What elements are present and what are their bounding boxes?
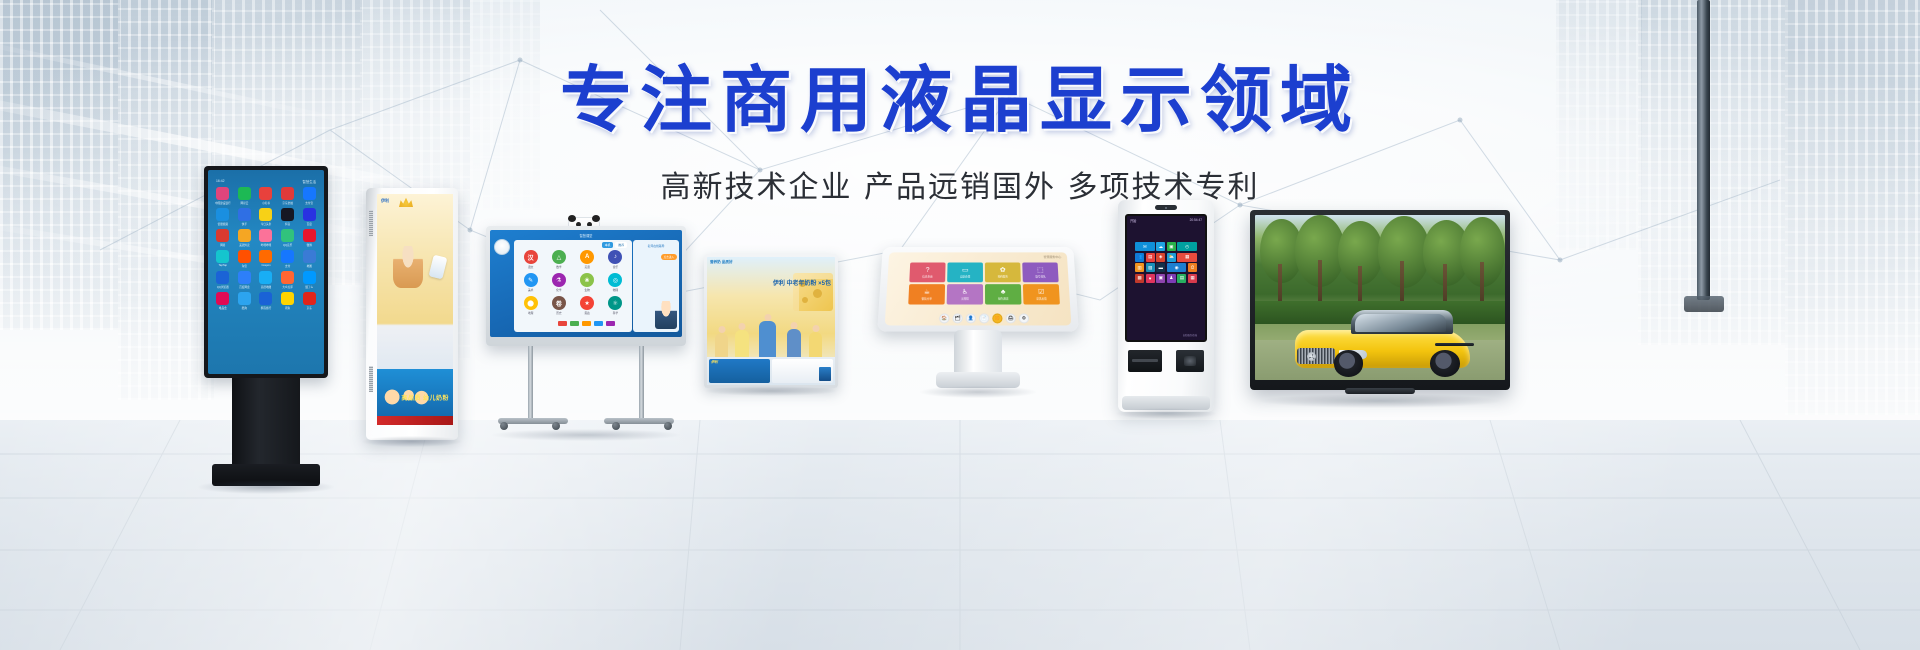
headline-block: 专注商用液晶显示领域 高新技术企业 产品远销国外 多项技术专利 [0,64,1920,206]
figure-child-2 [735,330,749,359]
selfservice-footer: 自助服务终端 [1135,333,1197,337]
kiosk-app-30[interactable]: 京东 [299,292,319,310]
subject-label: 科学 [613,311,618,315]
cheese-block-graphic [793,273,833,311]
retail-people-figures [713,319,829,359]
touchtable-tile-grid[interactable]: ?信息查询▭自助办理✿预约服务⬚取号排队☕餐饮点单♿无障碍♣绿色通道☑意见反馈 [908,262,1060,304]
subject-label: 美术 [528,288,533,292]
app-label: 地图 [307,264,312,268]
figure-child-1 [715,333,728,359]
retail-screen[interactable]: 营养奶 品质好 伊利 中老年奶粉 ×5包 [707,257,835,385]
kiosk-app-26[interactable]: 唯品会 [213,292,233,310]
tile-label: 自助办理 [960,274,970,278]
windows-tile-15[interactable]: ▩ [1135,274,1144,283]
app-label: 抖音 [285,222,290,226]
app-label: QQ音乐 [283,243,292,247]
tile-label: 无障碍 [961,296,969,300]
windows-tile-20[interactable]: ▦ [1188,274,1197,283]
kiosk-black-shadow [198,480,334,494]
ad-white-headline: 高品质 幼儿奶粉 [401,396,449,403]
retail-cell-1[interactable]: 伊利 [709,359,770,383]
subject-icon: ✎ [524,273,538,287]
touchtable-tile-1[interactable]: ?信息查询 [909,262,945,282]
subject-icon: 卷 [552,296,566,310]
touchtable-panel: 智慧服务中心 ?信息查询▭自助办理✿预约服务⬚取号排队☕餐饮点单♿无障碍♣绿色通… [877,247,1079,332]
windows-tile-9[interactable]: ▦ [1177,253,1197,262]
figure-child-4 [809,332,822,359]
retail-cell-2[interactable] [772,359,833,383]
subject-label: 生物 [584,288,589,292]
barcode-scanner-icon [1176,350,1204,372]
subject-label: 语文 [528,265,533,269]
windows-tile-14[interactable]: ⏱ [1188,263,1197,272]
whiteboard-stand-right [639,346,644,420]
car-wheel-front [1334,350,1364,376]
touchtable-screen[interactable]: 智慧服务中心 ?信息查询▭自助办理✿预约服务⬚取号排队☕餐饮点单♿无障碍♣绿色通… [885,252,1072,325]
touchtable-dock-button-3[interactable]: 👤 [966,313,976,323]
tile-label: 取号排队 [1035,274,1045,278]
app-icon [238,208,251,221]
product-vertical-ad-white[interactable]: 伊利 高品质 幼儿奶粉 [366,188,458,440]
tv-shadow [1260,394,1500,408]
product-pack-icon [819,367,831,381]
touchtable-tile-8[interactable]: ☑意见反馈 [1023,284,1060,304]
touchtable-dock-button-5[interactable]: 🔆 [992,313,1002,323]
product-vertical-kiosk-black[interactable]: 16:42 智慧生活 中国建设银行网易云小红书京东金融支付宝优酷视频快手今日头条… [204,166,328,486]
app-icon [281,250,294,263]
ad-white-vent-bottom [369,366,373,392]
windows-tile-16[interactable]: ♥ [1146,274,1155,283]
app-icon [259,271,272,284]
selfservice-clock: 20:54:47 [1190,218,1202,223]
ad-white-vent-top [369,210,373,236]
windows-tile-4[interactable]: ◴ [1177,242,1197,251]
subject-label: 地理 [528,311,533,315]
subject-tile-4[interactable]: ♪音乐 [603,250,628,269]
app-icon [259,250,272,263]
tile-icon: ♣ [1001,288,1006,295]
app-label: 百度网盘 [239,285,249,289]
app-label: 唯品会 [219,306,227,310]
subject-label: 数学 [556,265,561,269]
touchtable-tile-7[interactable]: ♣绿色通道 [985,284,1022,304]
tv-screen[interactable] [1255,215,1505,380]
kiosk-app-15[interactable]: 微博 [299,229,319,247]
app-label: 微博 [307,243,312,247]
windows-tile-19[interactable]: ▤ [1177,274,1186,283]
app-icon [216,292,229,305]
windows-tile-2[interactable]: ☁ [1156,242,1165,251]
sports-car-graphic [1295,307,1470,376]
subject-icon: 汉 [524,250,538,264]
subject-tile-10[interactable]: 卷历史 [546,296,571,315]
app-label: 携程旅行 [261,306,271,310]
kiosk-app-8[interactable]: 今日头条 [256,208,276,226]
app-icon [238,292,251,305]
touchtable-dock-button-4[interactable]: 📄 [979,313,989,323]
dock-item-4[interactable] [594,321,603,326]
subject-icon: ★ [580,296,594,310]
figure-adult [759,321,776,359]
kiosk-app-11[interactable]: 网易 [213,229,233,247]
car-rear-wing [1435,343,1474,346]
touchtable-dock-button-1[interactable]: 🏠 [939,313,949,323]
subject-icon: A [580,250,594,264]
windows-tile-6[interactable]: ▤ [1146,253,1155,262]
kiosk-app-23[interactable]: 高德地图 [256,271,276,289]
subject-tile-6[interactable]: ⚗化学 [546,273,571,292]
subject-icon: ❀ [580,273,594,287]
dock-item-1[interactable] [558,321,567,326]
app-label: 哔哩哔哩 [261,243,271,247]
tile-icon: ☑ [1038,288,1045,295]
touchtable-shadow [920,386,1036,398]
tile-icon: ♿ [962,288,968,295]
app-icon [259,292,272,305]
tile-label: 绿色通道 [998,296,1009,300]
app-label: 闲鱼 [285,306,290,310]
tile-icon: ▭ [962,267,969,274]
kiosk-black-column [232,378,300,466]
retail-bottom-strip: 伊利 [707,357,835,385]
whiteboard-sidebar[interactable]: 名师在线辅导 点击进入 [633,240,679,332]
subject-icon: ⚛ [608,296,622,310]
car-windshield [1355,314,1446,332]
app-icon [303,271,316,284]
ad-white-bottom-strip [377,416,453,425]
app-icon [303,250,316,263]
touchtable-dock-button-6[interactable]: 🖨 [1005,313,1015,323]
kiosk-app-25[interactable]: 饿了么 [299,271,319,289]
touchtable-tile-5[interactable]: ☕餐饮点单 [908,284,945,304]
tab-local[interactable]: 本机 [602,242,614,248]
windows-tile-12[interactable]: ▬ [1156,263,1165,272]
tile-icon: ☕ [924,288,931,295]
tile-icon: ⬚ [1037,267,1044,274]
selfservice-status-left: 开始 [1130,218,1136,223]
app-label: Coupon [261,264,270,267]
kiosk-app-29[interactable]: 闲鱼 [278,292,298,310]
app-icon [216,250,229,263]
selfservice-shadow [1116,408,1216,419]
subject-tile-5[interactable]: ✎美术 [518,273,543,292]
app-label: 京东 [307,306,312,310]
kiosk-app-18[interactable]: Coupon [256,250,276,268]
product-interactive-whiteboard[interactable]: 智慧课堂 本机 推荐 汉语文△数学A英语♪音乐✎美术⚗化学❀生物◎物理⬤地理卷历… [486,226,686,440]
whiteboard-shadow [492,429,680,441]
app-label: 网易 [220,243,225,247]
app-icon [238,229,251,242]
windows-tile-17[interactable]: ▣ [1156,274,1165,283]
app-label: 饿了么 [305,285,313,289]
cheese-hole-2 [813,289,822,298]
whiteboard-tabs[interactable]: 本机 推荐 [602,242,627,248]
touchtable-dock[interactable]: 🏠🗂👤📄🔆🖨⚙ [916,313,1053,323]
ad-white-product-shot [429,255,448,280]
subject-tile-11[interactable]: ★思政 [575,296,600,315]
touchtable-dock-button-2[interactable]: 🗂 [952,313,962,323]
kiosk-app-22[interactable]: 百度网盘 [235,271,255,289]
selfservice-statusbar: 开始 20:54:47 [1127,216,1205,225]
product-lcd-tv[interactable] [1250,210,1510,390]
windows-tile-10[interactable]: ▥ [1135,263,1144,272]
whiteboard-header: 智慧课堂 [490,230,682,240]
retail-brand: 营养奶 品质好 [710,260,733,264]
kiosk-app-7[interactable]: 快手 [235,208,255,226]
subject-tile-7[interactable]: ❀生物 [575,273,600,292]
app-label: 酷狗 [242,306,247,310]
windows-tile-3[interactable]: ▣ [1167,242,1176,251]
app-icon [303,292,316,305]
windows-tile-8[interactable]: ⛅ [1167,253,1176,262]
tab-recommended[interactable]: 推荐 [615,242,627,248]
app-label: 百度 [307,222,312,226]
app-label: 优酷视频 [218,222,228,226]
touchtable-header: 智慧服务中心 [1043,255,1061,259]
ad-white-shadow [362,436,462,447]
retail-bezel: 营养奶 品质好 伊利 中老年奶粉 ×5包 [704,254,838,388]
app-icon [216,208,229,221]
app-icon [238,271,251,284]
app-label: 美团外卖 [239,243,249,247]
subject-label: 历史 [556,311,561,315]
whiteboard-subject-card: 本机 推荐 汉语文△数学A英语♪音乐✎美术⚗化学❀生物◎物理⬤地理卷历史★思政⚛… [514,240,632,332]
subject-tile-8[interactable]: ◎物理 [603,273,628,292]
selfservice-screen[interactable]: 开始 20:54:47 ✉☁▣◴👥▤◈⛅▦▥▧▬◉⏱▩♥▣♟▤▦ 自助服务终端 [1125,214,1207,342]
subject-label: 英语 [584,265,589,269]
kiosk-app-24[interactable]: 大众点评 [278,271,298,289]
subject-tile-1[interactable]: 汉语文 [518,250,543,269]
app-label: 高德地图 [261,285,271,289]
touchtable-dock-button-7[interactable]: ⚙ [1019,313,1030,323]
product-self-service-kiosk[interactable]: 开始 20:54:47 ✉☁▣◴👥▤◈⛅▦▥▧▬◉⏱▩♥▣♟▤▦ 自助服务终端 [1118,200,1214,412]
whiteboard-cta-bubble[interactable]: 点击进入 [661,254,677,260]
kiosk-app-21[interactable]: QQ浏览器 [213,271,233,289]
tile-icon: ? [926,267,930,274]
app-icon [281,271,294,284]
kiosk-app-19[interactable]: 支付 [278,250,298,268]
product-touch-table[interactable]: 智慧服务中心 ?信息查询▭自助办理✿预约服务⬚取号排队☕餐饮点单♿无障碍♣绿色通… [880,244,1076,406]
panda-ear-left-icon [568,215,576,222]
tile-label: 意见反馈 [1036,296,1047,300]
touchtable-column [954,330,1002,376]
subject-tile-9[interactable]: ⬤地理 [518,296,543,315]
ad-white-kids-figures [382,379,428,409]
ad-white-child-figure [393,246,423,288]
touchtable-tile-2[interactable]: ▭自助办理 [947,262,983,282]
subject-icon: ◎ [608,273,622,287]
kiosk-app-28[interactable]: 携程旅行 [256,292,276,310]
app-label: 快手 [242,222,247,226]
app-icon [216,229,229,242]
windows-tile-11[interactable]: ▧ [1146,263,1155,272]
figure-child-3 [787,329,801,359]
app-label: TapTap [219,264,227,267]
whiteboard-bezel: 智慧课堂 本机 推荐 汉语文△数学A英语♪音乐✎美术⚗化学❀生物◎物理⬤地理卷历… [486,226,686,346]
app-icon [259,208,272,221]
app-icon [281,292,294,305]
windows-tile-13[interactable]: ◉ [1167,263,1187,272]
receipt-printer [1128,350,1162,372]
dock-item-3[interactable] [582,321,591,326]
app-icon [238,250,251,263]
app-icon [281,208,294,221]
whiteboard-sidebar-title: 名师在线辅导 [636,244,676,248]
whiteboard-header-label: 智慧课堂 [580,233,593,238]
retail-cell-1-text: 伊利 [711,361,718,365]
selfservice-tile-grid[interactable]: ✉☁▣◴👥▤◈⛅▦▥▧▬◉⏱▩♥▣♟▤▦ [1135,242,1197,283]
whiteboard-stand-left [528,346,533,420]
app-label: 大众点评 [282,285,292,289]
car-wheel-rear [1430,350,1460,376]
app-icon [303,208,316,221]
app-label: 支付 [285,264,290,268]
page-title: 专注商用液晶显示领域 [0,64,1920,136]
tv-bezel [1250,210,1510,390]
ad-white-chassis: 伊利 高品质 幼儿奶粉 [366,188,458,440]
subject-icon: △ [552,250,566,264]
touchtable-tile-3[interactable]: ✿预约服务 [985,262,1021,282]
kiosk-app-10[interactable]: 百度 [299,208,319,226]
app-icon [216,271,229,284]
kiosk-app-12[interactable]: 美团外卖 [235,229,255,247]
subject-tile-12[interactable]: ⚛科学 [603,296,628,315]
cheese-hole-3 [802,297,808,303]
page-subtitle: 高新技术企业 产品远销国外 多项技术专利 [0,162,1920,206]
whiteboard-dock[interactable] [494,321,678,326]
touchtable-tile-6[interactable]: ♿无障碍 [947,284,983,304]
kiosk-app-20[interactable]: 地图 [299,250,319,268]
whiteboard-screen[interactable]: 智慧课堂 本机 推荐 汉语文△数学A英语♪音乐✎美术⚗化学❀生物◎物理⬤地理卷历… [490,230,682,337]
windows-tile-1[interactable]: ✉ [1135,242,1155,251]
subject-icon: ⬤ [524,296,538,310]
selfservice-chassis: 开始 20:54:47 ✉☁▣◴👥▤◈⛅▦▥▧▬◉⏱▩♥▣♟▤▦ 自助服务终端 [1118,200,1214,412]
whiteboard-user-avatar[interactable] [494,239,510,255]
tile-icon: ✿ [1000,267,1006,274]
tile-label: 预约服务 [998,274,1008,278]
ad-white-screen[interactable]: 伊利 高品质 幼儿奶粉 [377,194,453,425]
kiosk-app-14[interactable]: QQ音乐 [278,229,298,247]
whiteboard-subject-grid[interactable]: 汉语文△数学A英语♪音乐✎美术⚗化学❀生物◎物理⬤地理卷历史★思政⚛科学 [518,250,628,315]
subject-label: 物理 [613,288,618,292]
kiosk-app-13[interactable]: 哔哩哔哩 [256,229,276,247]
dock-item-5[interactable] [606,321,615,326]
subject-label: 音乐 [613,265,618,269]
subject-icon: ♪ [608,250,622,264]
kiosk-app-17[interactable]: 淘宝 [235,250,255,268]
windows-tile-18[interactable]: ♟ [1167,274,1176,283]
kiosk-app-9[interactable]: 抖音 [278,208,298,226]
app-icon [303,229,316,242]
subject-tile-2[interactable]: △数学 [546,250,571,269]
banner-stage: 专注商用液晶显示领域 高新技术企业 产品远销国外 多项技术专利 16:42 智慧… [0,0,1920,650]
kiosk-app-27[interactable]: 酷狗 [235,292,255,310]
retail-headline: 伊利 中老年奶粉 ×5包 [773,281,831,288]
app-label: 今日头条 [261,222,271,226]
windows-tile-5[interactable]: 👥 [1135,253,1144,262]
tile-label: 信息查询 [922,274,932,278]
kiosk-app-16[interactable]: TapTap [213,250,233,268]
app-label: QQ浏览器 [217,285,229,289]
touchtable-tile-4[interactable]: ⬚取号排队 [1022,262,1058,282]
windows-tile-7[interactable]: ◈ [1156,253,1165,262]
subject-tile-3[interactable]: A英语 [575,250,600,269]
app-icon [281,229,294,242]
panda-ear-right-icon [592,215,600,222]
subject-label: 思政 [584,311,589,315]
subject-label: 化学 [556,288,561,292]
retail-shadow [706,386,836,396]
product-retail-ad-panel[interactable]: 营养奶 品质好 伊利 中老年奶粉 ×5包 [704,254,838,388]
tile-label: 餐饮点单 [921,296,932,300]
app-label: 淘宝 [242,264,247,268]
dock-item-2[interactable] [570,321,579,326]
subject-icon: ⚗ [552,273,566,287]
kiosk-app-6[interactable]: 优酷视频 [213,208,233,226]
app-icon [259,229,272,242]
